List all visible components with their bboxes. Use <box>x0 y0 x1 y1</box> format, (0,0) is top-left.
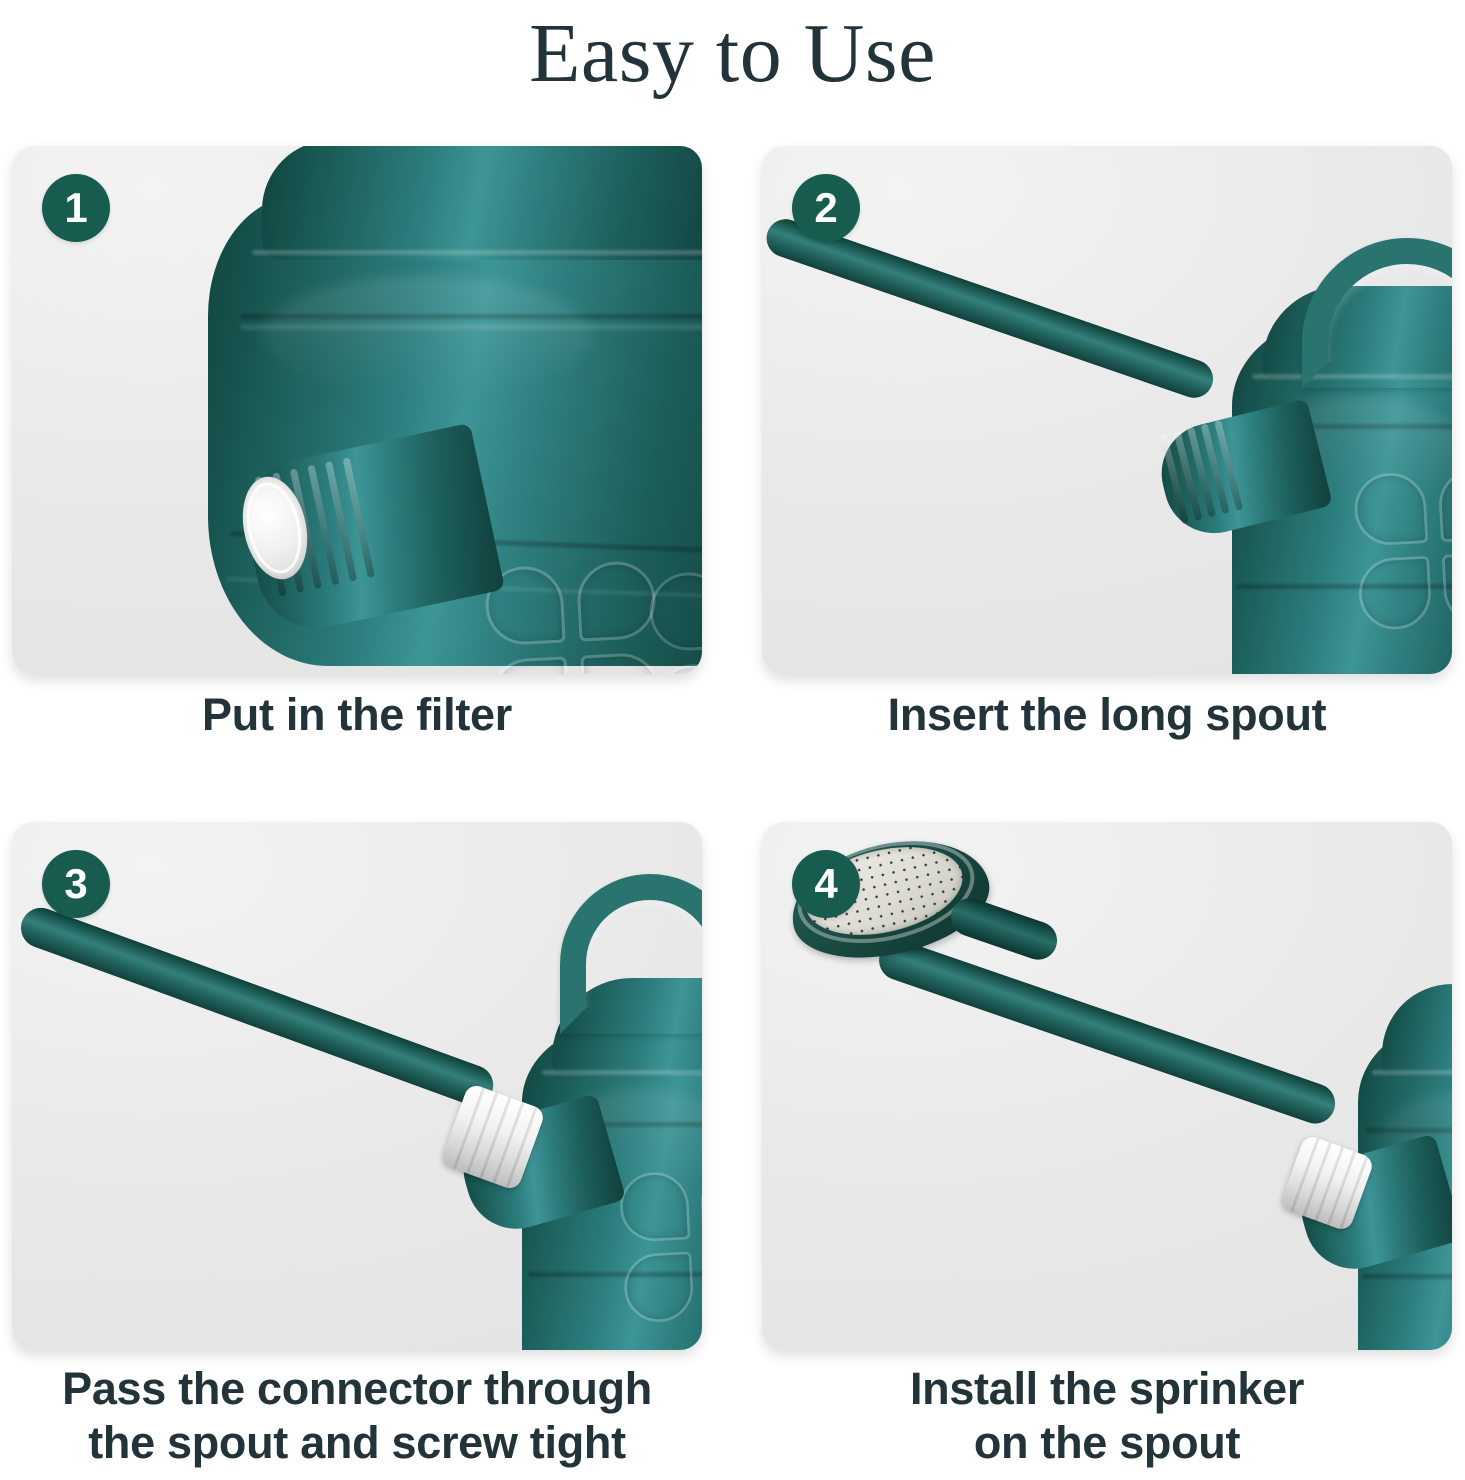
flower-emboss-icon <box>484 560 663 674</box>
step-card-1[interactable]: Put in the filter <box>12 146 702 674</box>
watering-can-lid-icon <box>262 146 702 260</box>
step-4-caption-line1: Install the sprinker <box>910 1363 1304 1414</box>
step-1-caption-line1: Put in the filter <box>202 689 512 740</box>
step-4-photo <box>762 822 1452 1350</box>
step-card-2[interactable]: Insert the long spout <box>762 146 1452 674</box>
step-4-caption-line2: on the spout <box>754 1416 1460 1470</box>
step-1-caption: Put in the filter <box>4 688 710 742</box>
watering-can-lid-icon <box>1382 984 1452 1074</box>
flower-emboss-icon <box>618 1166 702 1323</box>
watering-can-handle-icon <box>1302 238 1452 388</box>
long-spout-tube-icon[interactable] <box>874 935 1341 1129</box>
step-card-3[interactable]: Pass the connector through the spout and… <box>12 822 702 1350</box>
step-2-photo <box>762 146 1452 674</box>
flower-emboss-icon <box>1353 467 1452 631</box>
can-lid-seam <box>1372 1070 1452 1075</box>
step-2-caption-line1: Insert the long spout <box>888 689 1327 740</box>
step-3-photo <box>12 822 702 1350</box>
step-3-caption: Pass the connector through the spout and… <box>4 1362 710 1470</box>
step-badge-1: 1 <box>42 174 110 242</box>
long-spout-tube-icon[interactable] <box>762 214 1218 403</box>
step-badge-2: 2 <box>792 174 860 242</box>
can-lid-seam <box>252 250 702 255</box>
steps-grid: Put in the filter <box>0 0 1465 1480</box>
long-spout-tube-icon[interactable] <box>15 902 499 1111</box>
watering-can-handle-icon <box>560 874 702 1034</box>
can-gloss <box>262 276 592 396</box>
step-card-4[interactable]: Install the sprinker on the spout <box>762 822 1452 1350</box>
can-lid-seam <box>542 1070 702 1075</box>
step-4-caption: Install the sprinker on the spout <box>754 1362 1460 1470</box>
step-1-photo <box>12 146 702 674</box>
step-2-caption: Insert the long spout <box>754 688 1460 742</box>
flower-emboss-icon-2 <box>648 566 702 674</box>
step-3-caption-line1: Pass the connector through <box>62 1363 652 1414</box>
step-badge-4: 4 <box>792 850 860 918</box>
step-3-caption-line2: the spout and screw tight <box>4 1416 710 1470</box>
instruction-infographic: Easy to Use <box>0 0 1465 1480</box>
can-body-groove-2 <box>1362 1274 1452 1279</box>
step-badge-3: 3 <box>42 850 110 918</box>
sprinkler-neck <box>946 893 1062 965</box>
